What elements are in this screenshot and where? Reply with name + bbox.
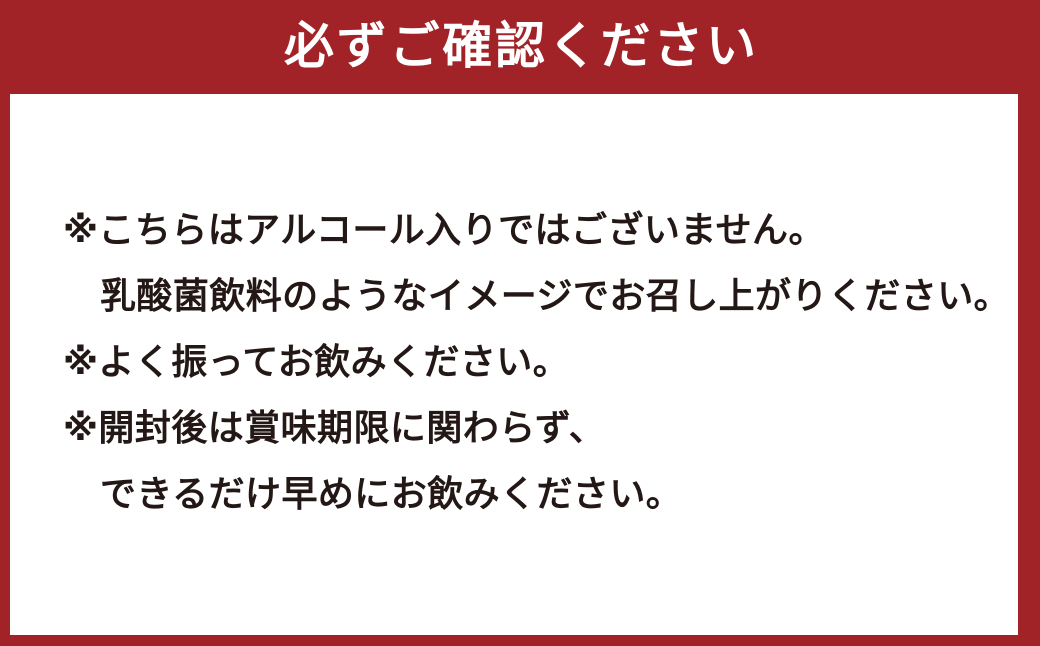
notice-line-4: ※開封後は賞味期限に関わらず、 (63, 396, 1008, 462)
notice-line-3: ※よく振ってお飲みください。 (63, 330, 1008, 396)
notice-card: 必ずご確認ください ※こちらはアルコール入りではございません。 乳酸菌飲料のよう… (0, 0, 1040, 646)
notice-header-banner: 必ずご確認ください (0, 0, 1040, 94)
notice-line-2: 乳酸菌飲料のようなイメージでお召し上がりください。 (63, 264, 1008, 330)
notice-body-panel: ※こちらはアルコール入りではございません。 乳酸菌飲料のようなイメージでお召し上… (10, 94, 1018, 635)
notice-text-block: ※こちらはアルコール入りではございません。 乳酸菌飲料のようなイメージでお召し上… (63, 198, 1008, 528)
notice-title: 必ずご確認ください (281, 21, 759, 71)
notice-line-1: ※こちらはアルコール入りではございません。 (63, 198, 1008, 264)
notice-line-5: できるだけ早めにお飲みください。 (63, 462, 1008, 528)
